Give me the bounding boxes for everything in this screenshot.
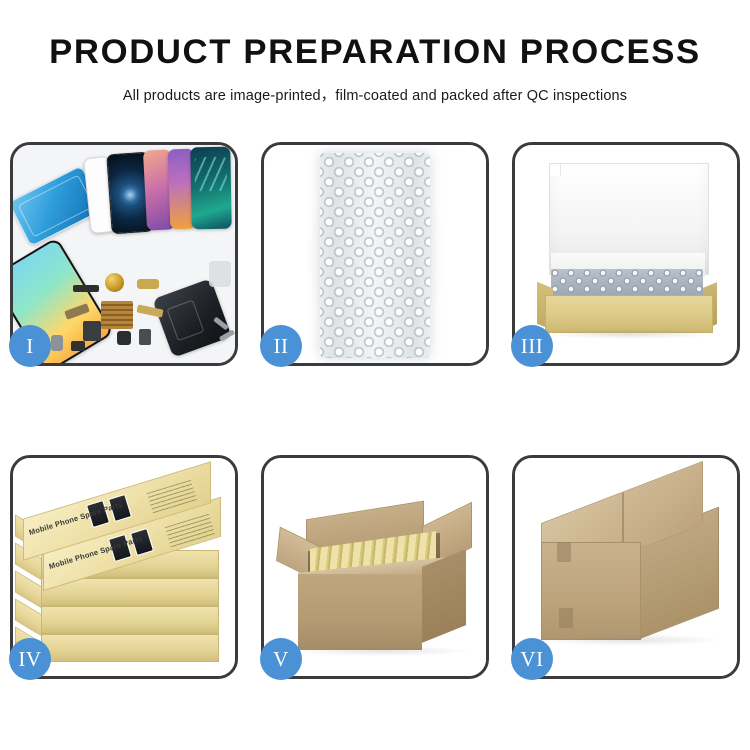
- phone-display-3: [190, 147, 231, 230]
- stack-box-body-4: [41, 634, 219, 662]
- step-image-3: [515, 145, 737, 363]
- page-subtitle: All products are image-printed，film-coat…: [0, 84, 750, 105]
- spare-part-flex-cable-1: [137, 279, 159, 289]
- box-front-wall: [545, 295, 713, 333]
- sealed-carton-scene: [515, 458, 737, 676]
- page-title: PRODUCT PREPARATION PROCESS: [0, 33, 750, 72]
- spare-part-connector-board: [101, 301, 133, 329]
- spare-part-gold-coil: [105, 273, 124, 292]
- step-image-5: [264, 458, 486, 676]
- spare-part-tool: [209, 261, 231, 287]
- step-image-6: [515, 458, 737, 676]
- inner-box-scene: [515, 145, 737, 363]
- product-collage-scene: [13, 145, 235, 363]
- phone-back-housing: [152, 278, 231, 357]
- carton-front-panel: [298, 574, 422, 650]
- process-step-panel-4: Mobile Phone Spare Parts Mobile Phone Sp…: [10, 455, 238, 679]
- step-image-2: [264, 145, 486, 363]
- step-badge-6: VI: [511, 638, 553, 680]
- page-header: PRODUCT PREPARATION PROCESS All products…: [0, 0, 750, 130]
- bubble-wrap-scene: [264, 145, 486, 363]
- sealed-carton-front: [541, 542, 641, 640]
- step-badge-1: I: [9, 325, 51, 367]
- box-shadow: [541, 329, 717, 339]
- sealed-carton-shadow: [539, 634, 721, 646]
- spare-part-chip-1: [117, 331, 131, 345]
- bubble-wrap-sheet: [320, 153, 430, 358]
- step-badge-2: II: [260, 325, 302, 367]
- spare-part-vibrator: [71, 341, 85, 351]
- process-step-grid: I II III: [10, 142, 740, 679]
- step-image-4: Mobile Phone Spare Parts Mobile Phone Sp…: [13, 458, 235, 676]
- process-step-panel-1: I: [10, 142, 238, 366]
- spare-part-battery-strip: [73, 285, 99, 292]
- carton-side-panel: [422, 549, 466, 643]
- step-badge-3: III: [511, 325, 553, 367]
- open-carton-scene: [264, 458, 486, 676]
- process-step-panel-5: V: [261, 455, 489, 679]
- bubble-pattern: [320, 153, 430, 358]
- carton-shadow: [294, 646, 470, 656]
- process-step-panel-2: II: [261, 142, 489, 366]
- process-step-panel-6: VI: [512, 455, 740, 679]
- spare-part-camera-module: [83, 321, 101, 341]
- spare-part-chip-2: [139, 329, 151, 345]
- carton-tape-1: [557, 542, 571, 562]
- process-step-panel-3: III: [512, 142, 740, 366]
- spare-part-speaker: [51, 335, 63, 351]
- stack-box-body-3: [41, 606, 219, 634]
- step-badge-5: V: [260, 638, 302, 680]
- box-stack-scene: Mobile Phone Spare Parts Mobile Phone Sp…: [13, 458, 235, 676]
- step-badge-4: IV: [9, 638, 51, 680]
- step-image-1: [13, 145, 235, 363]
- carton-tape-2: [559, 608, 573, 628]
